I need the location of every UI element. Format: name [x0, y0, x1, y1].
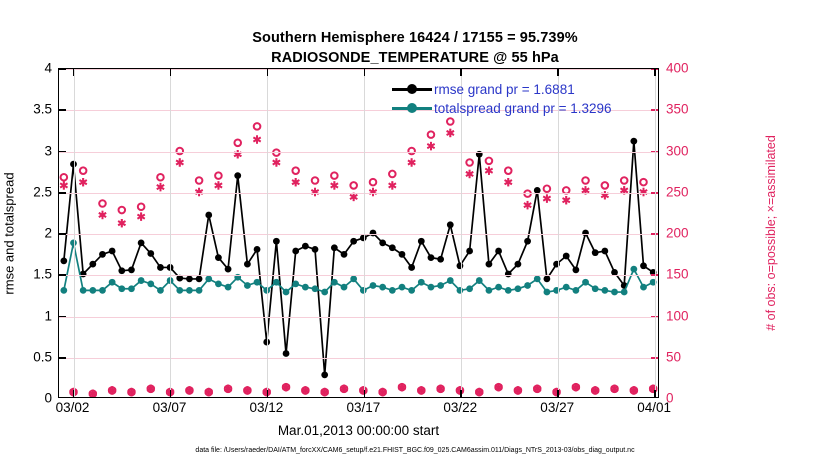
- tick-left: [59, 357, 66, 359]
- data-point: [186, 287, 193, 294]
- gridline-vertical: [558, 69, 559, 397]
- gridline-horizontal: [59, 193, 658, 194]
- data-point: [592, 285, 599, 292]
- tick-bottom: [267, 390, 269, 397]
- legend-item-rmse: rmse grand pr = 1.6881: [392, 80, 575, 98]
- obs-assimilated-marker: [563, 196, 570, 204]
- data-point: [630, 138, 637, 145]
- data-point: [601, 248, 608, 255]
- data-point: [418, 279, 425, 286]
- data-point: [321, 371, 328, 378]
- obs-possible-marker: [292, 167, 299, 174]
- obs-assimilated-marker: [447, 129, 454, 137]
- tick-top: [557, 69, 559, 76]
- data-point: [80, 287, 87, 294]
- data-point: [408, 287, 415, 294]
- legend-label-totalspread: totalspread grand pr = 1.3296: [434, 101, 612, 116]
- data-point: [399, 284, 406, 291]
- data-point: [582, 230, 589, 237]
- axis-tick-label: 03/17: [346, 400, 380, 415]
- obs-possible-marker: [505, 167, 512, 174]
- obs-possible-marker: [370, 179, 377, 186]
- data-point: [89, 261, 96, 268]
- data-point: [312, 246, 319, 253]
- data-point: [505, 287, 512, 294]
- y-axis-right-ticks: 050100150200250300350400: [666, 68, 716, 398]
- data-point: [447, 221, 454, 228]
- plot-area[interactable]: [58, 68, 659, 398]
- y-axis-left-ticks: 00.511.522.533.54: [8, 68, 52, 398]
- data-point: [476, 277, 483, 284]
- data-point: [534, 276, 541, 283]
- obs-assimilated-marker: [80, 178, 87, 186]
- tick-left: [59, 109, 66, 111]
- tick-top: [460, 69, 462, 76]
- obs-possible-marker: [621, 177, 628, 184]
- data-point: [254, 279, 261, 286]
- tick-bottom: [73, 390, 75, 397]
- data-point: [379, 284, 386, 291]
- data-point: [428, 254, 435, 261]
- obs-possible-marker: [582, 177, 589, 184]
- data-point: [524, 238, 531, 245]
- obs-assimilated-marker: [427, 142, 434, 150]
- data-point: [563, 253, 570, 260]
- obs-assimilated-marker: [408, 158, 415, 166]
- gridline-vertical: [74, 69, 75, 397]
- tick-left: [59, 192, 66, 194]
- data-point: [215, 280, 222, 287]
- data-point: [292, 280, 299, 287]
- series-totalspread-grand-pr-1-3296: [60, 239, 656, 295]
- data-point: [466, 248, 473, 255]
- legend-item-totalspread: totalspread grand pr = 1.3296: [392, 99, 612, 117]
- data-point: [147, 280, 154, 287]
- obs-assimilated-marker: [331, 181, 338, 189]
- obs-possible-marker: [602, 182, 609, 189]
- data-point: [495, 284, 502, 291]
- data-point: [524, 282, 531, 289]
- data-point: [389, 287, 396, 294]
- axis-tick-label: 1: [44, 308, 52, 323]
- data-point: [302, 284, 309, 291]
- tick-top: [364, 69, 366, 76]
- obs-assimilated-marker: [99, 211, 106, 219]
- axis-tick-label: 0.5: [33, 349, 52, 364]
- data-point: [225, 266, 232, 273]
- data-point: [447, 277, 454, 284]
- axis-tick-label: 350: [666, 102, 689, 117]
- obs-possible-marker: [215, 172, 222, 179]
- gridline-horizontal: [59, 317, 658, 318]
- title-line-2: RADIOSONDE_TEMPERATURE @ 55 hPa: [0, 48, 830, 68]
- data-point: [118, 267, 125, 274]
- obs-diag-plot-page: Southern Hemisphere 16424 / 17155 = 95.7…: [0, 0, 830, 470]
- data-point: [138, 239, 145, 246]
- data-point: [302, 243, 309, 250]
- axis-tick-label: 250: [666, 184, 689, 199]
- data-point: [572, 287, 579, 294]
- data-file-footer: data file: /Users/raeder/DAI/ATM_forcXX/…: [0, 447, 830, 454]
- data-point: [399, 251, 406, 258]
- axis-tick-label: 200: [666, 226, 689, 241]
- obs-possible-marker: [234, 140, 241, 147]
- x-axis-ticks: 03/0203/0703/1203/1703/2203/2704/01: [58, 400, 659, 420]
- gridline-vertical: [170, 69, 171, 397]
- legend-marker-rmse: [392, 82, 432, 96]
- axis-tick-label: 100: [666, 308, 689, 323]
- obs-possible-marker: [61, 174, 68, 181]
- obs-possible-marker: [331, 172, 338, 179]
- obs-assimilated-marker: [292, 178, 299, 186]
- data-point: [572, 267, 579, 274]
- gridline-horizontal: [59, 275, 658, 276]
- series-rmse-grand-pr-1-6881: [60, 138, 656, 378]
- data-point: [486, 261, 493, 268]
- obs-assimilated-marker: [505, 178, 512, 186]
- data-point: [621, 289, 628, 296]
- gridline-vertical: [267, 69, 268, 397]
- axis-tick-label: 03/07: [153, 400, 187, 415]
- data-point: [244, 282, 251, 289]
- data-point: [215, 254, 222, 261]
- gridline-vertical: [364, 69, 365, 397]
- axis-tick-label: 03/22: [443, 400, 477, 415]
- data-point: [495, 248, 502, 255]
- tick-left: [59, 69, 66, 70]
- tick-bottom: [557, 390, 559, 397]
- data-point: [379, 239, 386, 246]
- data-point: [118, 285, 125, 292]
- data-point: [457, 262, 464, 269]
- axis-tick-label: 2: [44, 226, 52, 241]
- obs-possible-marker: [99, 200, 106, 207]
- data-point: [341, 251, 348, 258]
- tick-top: [73, 69, 75, 76]
- axis-tick-label: 03/12: [250, 400, 284, 415]
- data-point: [176, 287, 183, 294]
- gridline-vertical: [461, 69, 462, 397]
- data-point: [99, 251, 106, 258]
- axis-tick-label: 300: [666, 143, 689, 158]
- data-point: [292, 248, 299, 255]
- data-point: [437, 282, 444, 289]
- tick-bottom: [170, 390, 172, 397]
- tick-left: [59, 233, 66, 235]
- data-point: [205, 212, 212, 219]
- gridline-horizontal: [59, 69, 658, 70]
- data-point: [254, 246, 261, 253]
- data-point: [60, 287, 67, 294]
- obs-possible-marker: [486, 158, 493, 165]
- tick-bottom: [460, 390, 462, 397]
- data-point: [109, 279, 116, 286]
- axis-tick-label: 400: [666, 61, 689, 76]
- tick-left: [59, 316, 66, 318]
- data-point: [128, 285, 135, 292]
- data-point: [89, 287, 96, 294]
- obs-assimilated-marker: [273, 158, 280, 166]
- legend-label-rmse: rmse grand pr = 1.6881: [434, 82, 575, 97]
- obs-possible-marker: [640, 179, 647, 186]
- obs-assimilated-marker: [389, 181, 396, 189]
- obs-assimilated-marker: [137, 212, 144, 220]
- data-point: [428, 284, 435, 291]
- data-point: [611, 289, 618, 296]
- obs-assimilated-marker: [524, 201, 531, 209]
- tick-left: [59, 274, 66, 276]
- obs-assimilated-marker: [215, 181, 222, 189]
- tick-top: [267, 69, 269, 76]
- axis-tick-label: 0: [44, 391, 52, 406]
- axis-tick-label: 3.5: [33, 102, 52, 117]
- obs-possible-marker: [389, 171, 396, 178]
- gridline-horizontal: [59, 234, 658, 235]
- obs-possible-marker: [157, 174, 164, 181]
- data-point: [196, 276, 203, 283]
- obs-possible-marker: [119, 207, 126, 214]
- obs-possible-marker: [254, 123, 261, 130]
- obs-assimilated-marker: [157, 183, 164, 191]
- data-point: [350, 276, 357, 283]
- data-point: [592, 249, 599, 256]
- data-point: [283, 289, 290, 296]
- data-point: [601, 287, 608, 294]
- obs-assimilated-marker: [485, 167, 492, 175]
- data-point: [244, 261, 251, 268]
- data-point: [370, 230, 377, 237]
- data-point: [283, 350, 290, 357]
- data-point: [225, 284, 232, 291]
- series-layer: [59, 69, 658, 397]
- data-point: [360, 287, 367, 294]
- data-point: [157, 287, 164, 294]
- gridline-vertical: [655, 69, 656, 397]
- data-point: [630, 266, 637, 273]
- title-line-1: Southern Hemisphere 16424 / 17155 = 95.7…: [0, 28, 830, 48]
- obs-possible-marker: [428, 131, 435, 138]
- axis-tick-label: 4: [44, 61, 52, 76]
- legend-marker-totalspread: [392, 101, 432, 115]
- tick-bottom: [654, 390, 656, 397]
- data-point: [437, 256, 444, 263]
- obs-assimilated-marker: [543, 194, 550, 202]
- obs-possible-marker: [544, 185, 551, 192]
- tick-top: [654, 69, 656, 76]
- data-point: [128, 267, 135, 274]
- data-point: [360, 235, 367, 242]
- data-point: [389, 244, 396, 251]
- obs-possible-marker: [196, 177, 203, 184]
- data-point: [99, 287, 106, 294]
- data-point: [640, 284, 647, 291]
- data-point: [544, 289, 551, 296]
- obs-possible-marker: [350, 182, 357, 189]
- gridline-horizontal: [59, 152, 658, 153]
- data-point: [408, 264, 415, 271]
- axis-tick-label: 03/27: [540, 400, 574, 415]
- data-point: [273, 279, 280, 286]
- data-point: [544, 276, 551, 283]
- obs-possible-marker: [312, 177, 319, 184]
- data-point: [515, 261, 522, 268]
- data-point: [60, 258, 67, 265]
- tick-bottom: [364, 390, 366, 397]
- data-point: [138, 277, 145, 284]
- axis-tick-label: 04/01: [637, 400, 671, 415]
- obs-assimilated-marker: [176, 158, 183, 166]
- axis-tick-label: 150: [666, 267, 689, 282]
- chart-title: Southern Hemisphere 16424 / 17155 = 95.7…: [0, 28, 830, 68]
- data-point: [109, 248, 116, 255]
- obs-possible-marker: [466, 159, 473, 166]
- data-point: [331, 279, 338, 286]
- obs-assimilated-marker: [466, 170, 473, 178]
- axis-tick-label: 1.5: [33, 267, 52, 282]
- data-point: [563, 284, 570, 291]
- data-point: [515, 285, 522, 292]
- obs-assimilated-marker: [118, 219, 125, 227]
- data-point: [370, 282, 377, 289]
- data-point: [486, 287, 493, 294]
- axis-tick-label: 2.5: [33, 184, 52, 199]
- data-point: [466, 285, 473, 292]
- data-point: [157, 264, 164, 271]
- data-point: [205, 276, 212, 283]
- tick-top: [170, 69, 172, 76]
- data-point: [582, 279, 589, 286]
- y-axis-right-label: # of obs: o=possible; ×=assimilated: [760, 68, 782, 398]
- data-point: [341, 284, 348, 291]
- data-point: [505, 271, 512, 278]
- tick-left: [59, 151, 66, 153]
- obs-possible-marker: [138, 203, 145, 210]
- data-point: [312, 285, 319, 292]
- axis-tick-label: 03/02: [56, 400, 90, 415]
- axis-tick-label: 50: [666, 349, 681, 364]
- axis-tick-label: 3: [44, 143, 52, 158]
- data-point: [457, 287, 464, 294]
- obs-possible-marker: [447, 118, 454, 125]
- obs-assimilated-marker: [60, 181, 67, 189]
- obs-assimilated-marker: [253, 135, 260, 143]
- obs-assimilated-marker: [350, 193, 357, 201]
- data-point: [234, 172, 241, 179]
- plot-canvas: [59, 69, 658, 397]
- data-point: [331, 244, 338, 251]
- data-point: [350, 238, 357, 245]
- data-point: [640, 262, 647, 269]
- data-point: [321, 289, 328, 296]
- data-point: [418, 238, 425, 245]
- obs-possible-marker: [80, 167, 87, 174]
- obs-possible-marker: [273, 149, 280, 156]
- x-axis-label: Mar.01,2013 00:00:00 start: [58, 423, 659, 438]
- gridline-horizontal: [59, 358, 658, 359]
- data-point: [147, 250, 154, 257]
- data-point: [273, 238, 280, 245]
- data-point: [196, 287, 203, 294]
- data-point: [186, 276, 193, 283]
